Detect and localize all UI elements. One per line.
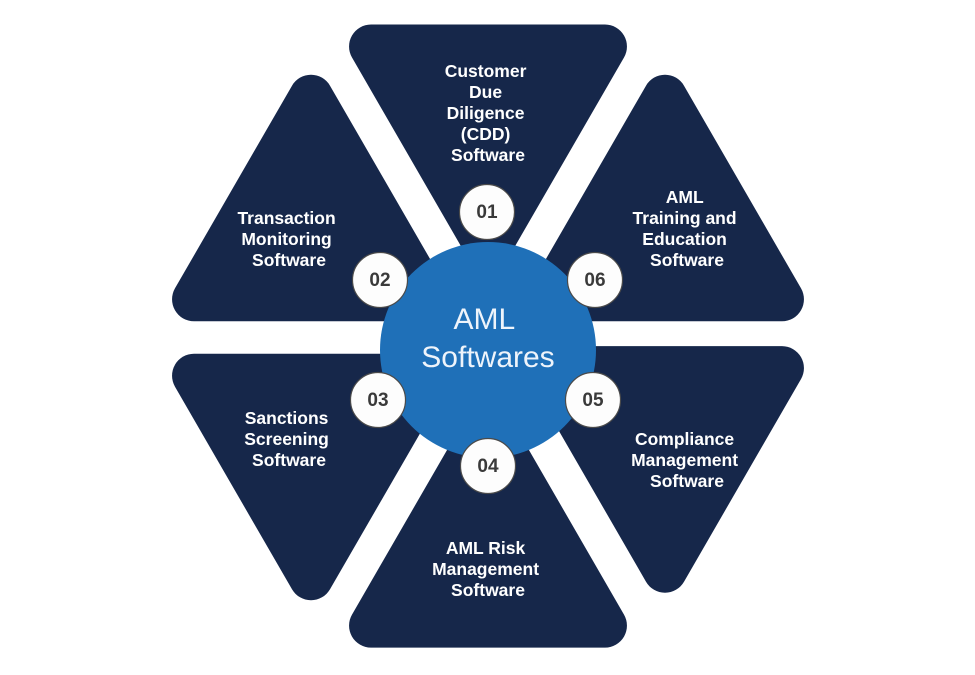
segment-06-line-1: Training and bbox=[633, 208, 737, 228]
badge-04[interactable]: 04 bbox=[461, 439, 516, 494]
segment-04-line-0: AML Risk bbox=[446, 538, 526, 558]
badge-02[interactable]: 02 bbox=[353, 253, 408, 308]
segment-01-line-3: (CDD) bbox=[461, 124, 511, 144]
aml-softwares-diagram: Customer Due Diligence (CDD) Software Tr… bbox=[0, 0, 975, 675]
segment-03-line-0: Sanctions bbox=[245, 408, 329, 428]
badge-05-number: 05 bbox=[582, 390, 604, 411]
diagram-canvas: Customer Due Diligence (CDD) Software Tr… bbox=[0, 0, 975, 675]
badge-03[interactable]: 03 bbox=[351, 373, 406, 428]
segment-05-line-1: Management bbox=[631, 450, 738, 470]
segment-03-line-2: Software bbox=[252, 450, 326, 470]
segment-02-line-0: Transaction bbox=[237, 208, 335, 228]
segment-06-line-3: Software bbox=[650, 250, 724, 270]
badge-01-number: 01 bbox=[476, 202, 498, 223]
badge-04-number: 04 bbox=[477, 456, 499, 477]
center-hub[interactable]: AML Softwares bbox=[380, 242, 596, 458]
segment-05-line-0: Compliance bbox=[635, 429, 734, 449]
badge-02-number: 02 bbox=[369, 270, 390, 291]
segment-06-line-0: AML bbox=[666, 187, 704, 207]
segment-01-line-4: Software bbox=[451, 145, 525, 165]
badge-03-number: 03 bbox=[367, 390, 388, 411]
segment-01-line-0: Customer bbox=[445, 61, 527, 81]
badge-05[interactable]: 05 bbox=[566, 373, 621, 428]
segment-04-line-1: Management bbox=[432, 559, 539, 579]
center-title-line-2: Softwares bbox=[421, 341, 554, 374]
segment-03-line-1: Screening bbox=[244, 429, 329, 449]
segment-01-line-1: Due bbox=[469, 82, 502, 102]
badge-06[interactable]: 06 bbox=[568, 253, 623, 308]
segment-03-label: Sanctions Screening Software bbox=[244, 408, 334, 470]
segment-05-line-2: Software bbox=[650, 471, 724, 491]
badge-06-number: 06 bbox=[584, 270, 605, 291]
segment-02-line-1: Monitoring bbox=[241, 229, 331, 249]
segment-01-label: Customer Due Diligence (CDD) Software bbox=[445, 61, 532, 165]
segment-06-line-2: Education bbox=[642, 229, 727, 249]
segment-04-line-2: Software bbox=[451, 580, 525, 600]
segment-01-line-2: Diligence bbox=[447, 103, 525, 123]
segment-02-label: Transaction Monitoring Software bbox=[237, 208, 340, 270]
segment-02-line-2: Software bbox=[252, 250, 326, 270]
badge-01[interactable]: 01 bbox=[460, 185, 515, 240]
center-title-line-1: AML bbox=[454, 303, 515, 336]
